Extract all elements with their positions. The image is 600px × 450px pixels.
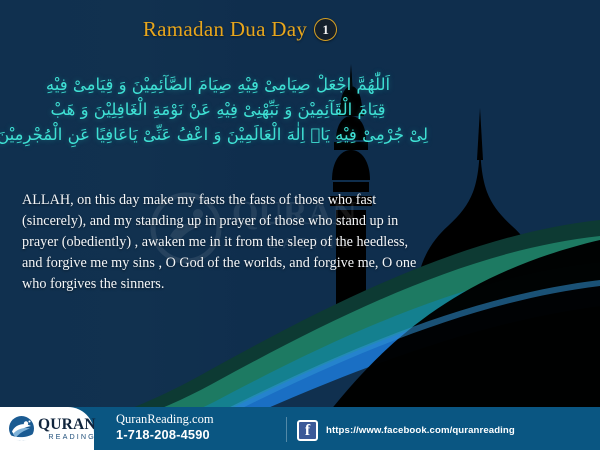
page-title: Ramadan Dua Day <box>143 17 307 42</box>
arabic-dua-text: اَللّٰهُمَّ اجْعَلْ صِيَامِىْ فِيْهِ صِي… <box>8 72 428 147</box>
facebook-url-text[interactable]: https://www.facebook.com/quranreading <box>326 425 515 436</box>
logo-secondary-text: READING <box>38 433 96 440</box>
phone-text[interactable]: 1-718-208-4590 <box>116 427 214 444</box>
day-number-badge: 1 <box>314 18 337 41</box>
arabic-line: لِىْ جُرْمِىْ فِيْهِ يَاۤ اِلٰهَ الْعَال… <box>8 122 428 147</box>
logo-primary-text: QURAN <box>38 417 96 433</box>
quran-book-icon <box>8 415 35 442</box>
facebook-icon[interactable]: f <box>297 420 318 441</box>
ramadan-dua-card: QURAN READING Ramadan Dua Day 1 اَللّٰهُ… <box>0 0 600 450</box>
translation-text: ALLAH, on this day make my fasts the fas… <box>22 190 422 295</box>
facebook-link[interactable]: f https://www.facebook.com/quranreading <box>297 420 515 441</box>
footer-bar: QURAN READING QuranReading.com 1-718-208… <box>0 407 600 450</box>
quran-reading-logo[interactable]: QURAN READING <box>8 413 106 444</box>
arabic-line: قِيَامَ الْقَآئِمِيْنَ وَ نَبِّهْنِىْ فِ… <box>8 97 428 122</box>
contact-info: QuranReading.com 1-718-208-4590 <box>116 412 214 444</box>
arabic-line: اَللّٰهُمَّ اجْعَلْ صِيَامِىْ فِيْهِ صِي… <box>8 72 428 97</box>
website-text[interactable]: QuranReading.com <box>116 412 214 428</box>
footer-divider <box>286 417 287 442</box>
card-title: Ramadan Dua Day 1 <box>0 17 480 42</box>
logo-wordmark: QURAN READING <box>38 417 96 441</box>
